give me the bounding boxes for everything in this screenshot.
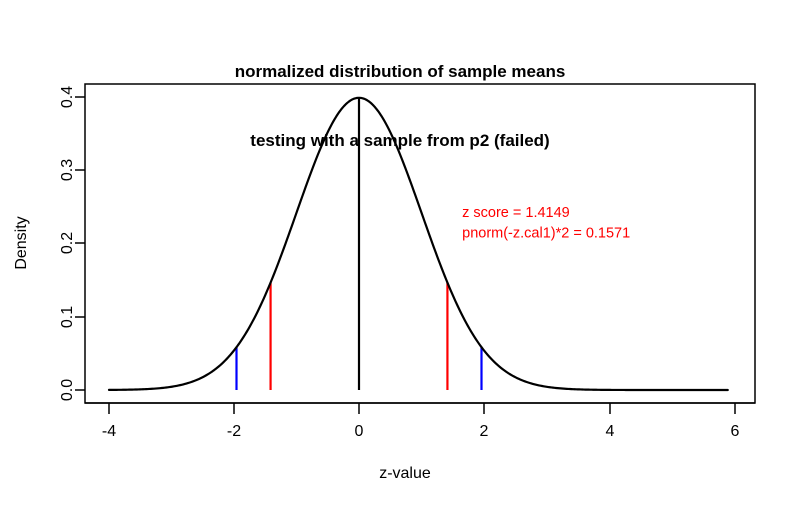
x-axis: -4 -2 0 2 4 6 z-value (85, 403, 755, 482)
y-tick-label-0.1: 0.1 (59, 306, 76, 328)
chart-canvas: 0.4 0.3 0.2 0.1 0.0 Density -4 -2 0 2 4 … (0, 0, 800, 507)
x-axis-title: z-value (379, 465, 431, 482)
y-tick-label-0.0: 0.0 (59, 379, 76, 401)
x-tick-label--2: -2 (227, 423, 241, 440)
x-tick-label-6: 6 (731, 423, 740, 440)
y-tick-label-0.2: 0.2 (59, 232, 76, 254)
x-tick-label-2: 2 (480, 423, 489, 440)
x-tick-label-4: 4 (606, 423, 615, 440)
annotations-group: z score = 1.4149pnorm(-z.cal1)*2 = 0.157… (462, 205, 630, 242)
plot-frame (85, 84, 755, 403)
z-score-annotation: z score = 1.4149 (462, 205, 570, 221)
density-curve (109, 98, 728, 390)
y-axis-title: Density (13, 216, 30, 269)
pvalue-annotation: pnorm(-z.cal1)*2 = 0.1571 (462, 225, 630, 241)
plot-root: normalized distribution of sample means … (0, 0, 800, 507)
x-tick-label--4: -4 (102, 423, 116, 440)
y-axis: 0.4 0.3 0.2 0.1 0.0 Density (13, 86, 85, 401)
x-tick-label-0: 0 (355, 423, 364, 440)
y-tick-label-0.4: 0.4 (59, 86, 76, 108)
vertical-lines-group (237, 98, 482, 390)
y-tick-label-0.3: 0.3 (59, 159, 76, 181)
